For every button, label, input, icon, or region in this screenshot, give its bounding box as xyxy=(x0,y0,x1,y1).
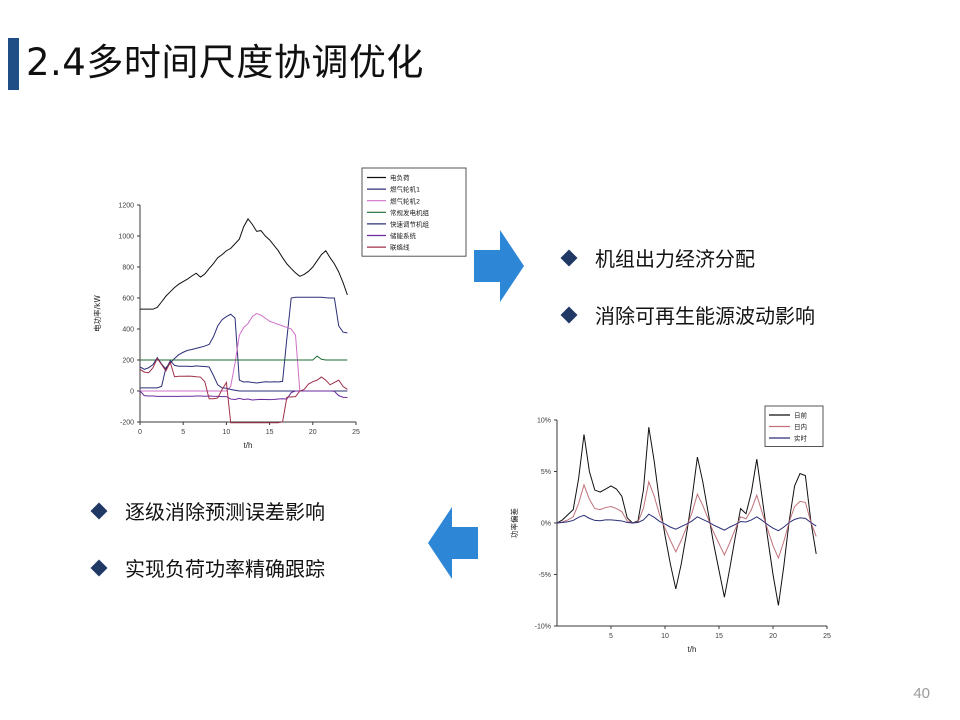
arrow-left xyxy=(424,505,482,581)
legend-label: 实时 xyxy=(794,434,808,443)
x-tick-label: 25 xyxy=(823,633,831,640)
y-tick-label: 1000 xyxy=(118,234,134,241)
bullet-item: 逐级消除预测误差影响 xyxy=(93,496,325,525)
arrow-left-icon xyxy=(424,505,482,581)
x-tick-label: 10 xyxy=(661,633,669,640)
chart-power-dispatch-svg: -2000200400600800100012000510152025t/h电功… xyxy=(84,160,474,470)
series-line xyxy=(557,482,816,558)
y-tick-label: 200 xyxy=(122,358,134,365)
y-tick-label: 0% xyxy=(541,521,551,528)
y-tick-label: 600 xyxy=(122,296,134,303)
page-title: 2.4多时间尺度协调优化 xyxy=(26,32,424,86)
chart-power-deviation: -10%-5%0%5%10%510152025t/h功率偏差日前日内实时 xyxy=(495,398,895,668)
x-tick-label: 20 xyxy=(309,429,317,436)
arrow-right-icon xyxy=(470,228,528,304)
y-tick-label: 800 xyxy=(122,265,134,272)
x-tick-label: 20 xyxy=(769,633,777,640)
legend-label: 常规发电机组 xyxy=(390,208,430,217)
legend-label: 燃气轮机1 xyxy=(390,185,420,194)
bullet-label: 逐级消除预测误差影响 xyxy=(125,496,325,525)
bullet-item: 消除可再生能源波动影响 xyxy=(563,300,815,329)
y-tick-label: 1200 xyxy=(118,203,134,210)
y-tick-label: 10% xyxy=(537,418,551,425)
chart-power-deviation-svg: -10%-5%0%5%10%510152025t/h功率偏差日前日内实时 xyxy=(495,398,895,668)
legend-label: 快速调节机组 xyxy=(390,220,430,229)
legend-label: 电负荷 xyxy=(390,173,410,182)
y-axis-title: 电功率/kW xyxy=(92,295,102,332)
bullet-item: 实现负荷功率精确跟踪 xyxy=(93,553,325,582)
slide-title-bar: 2.4多时间尺度协调优化 xyxy=(0,34,960,92)
series-line xyxy=(140,356,347,360)
x-tick-label: 5 xyxy=(609,633,613,640)
bullet-item: 机组出力经济分配 xyxy=(563,243,815,272)
x-tick-label: 5 xyxy=(181,429,185,436)
x-tick-label: 25 xyxy=(352,429,360,436)
series-line xyxy=(140,219,347,309)
legend-label: 联络线 xyxy=(390,243,410,252)
x-axis-title: t/h xyxy=(244,441,253,450)
x-tick-label: 15 xyxy=(266,429,274,436)
x-tick-label: 0 xyxy=(138,429,142,436)
y-axis-title: 功率偏差 xyxy=(509,508,519,538)
bullet-label: 消除可再生能源波动影响 xyxy=(595,300,815,329)
chart-power-dispatch: -2000200400600800100012000510152025t/h电功… xyxy=(84,160,474,470)
x-axis-title: t/h xyxy=(688,645,697,654)
page-number: 40 xyxy=(913,685,930,702)
series-line xyxy=(140,314,347,392)
bullet-list-left: 逐级消除预测误差影响 实现负荷功率精确跟踪 xyxy=(93,496,325,610)
y-tick-label: 0 xyxy=(130,389,134,396)
diamond-bullet-icon xyxy=(91,559,108,576)
y-tick-label: -5% xyxy=(539,572,551,579)
legend-label: 燃气轮机2 xyxy=(390,196,420,205)
diamond-bullet-icon xyxy=(91,502,108,519)
diamond-bullet-icon xyxy=(561,306,578,323)
title-accent-bar xyxy=(8,38,19,90)
y-tick-label: 400 xyxy=(122,327,134,334)
series-line xyxy=(557,427,816,605)
legend-label: 日前 xyxy=(794,411,808,420)
y-tick-label: -200 xyxy=(120,420,134,427)
diamond-bullet-icon xyxy=(561,249,578,266)
legend-label: 储能系统 xyxy=(390,231,417,240)
arrow-right xyxy=(470,228,528,304)
x-tick-label: 10 xyxy=(223,429,231,436)
series-line xyxy=(140,391,347,400)
bullet-list-right: 机组出力经济分配 消除可再生能源波动影响 xyxy=(563,243,815,357)
y-tick-label: 5% xyxy=(541,469,551,476)
legend-label: 日内 xyxy=(794,422,807,431)
y-tick-label: -10% xyxy=(535,624,551,631)
bullet-label: 实现负荷功率精确跟踪 xyxy=(125,553,325,582)
bullet-label: 机组出力经济分配 xyxy=(595,243,755,272)
series-line xyxy=(140,297,347,388)
x-tick-label: 15 xyxy=(715,633,723,640)
